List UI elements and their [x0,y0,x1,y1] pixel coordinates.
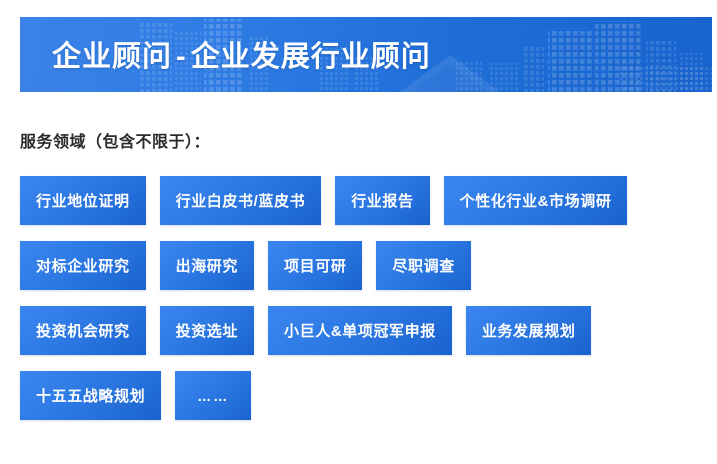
tag-row: 十五五战略规划 …… [20,371,700,420]
service-tag[interactable]: 投资选址 [160,306,254,355]
service-tag[interactable]: 对标企业研究 [20,241,146,290]
service-tag[interactable]: 投资机会研究 [20,306,146,355]
service-tag[interactable]: 十五五战略规划 [20,371,161,420]
tag-row: 对标企业研究 出海研究 项目可研 尽职调查 [20,241,700,290]
service-tag-grid: 行业地位证明 行业白皮书/蓝皮书 行业报告 个性化行业&市场调研 对标企业研究 … [20,176,700,420]
service-tag[interactable]: 行业白皮书/蓝皮书 [160,176,322,225]
service-tag[interactable]: 尽职调查 [376,241,470,290]
banner-title-separator: - [172,41,191,73]
header-banner: 企业顾问-企业发展行业顾问 [20,17,712,92]
service-areas-label: 服务领域（包含不限于）： [20,128,210,152]
service-tag[interactable]: 小巨人&单项冠军申报 [268,306,452,355]
service-tag[interactable]: 出海研究 [160,241,254,290]
banner-title-main: 企业顾问 [52,41,172,73]
service-tag[interactable]: 行业报告 [335,176,429,225]
page-root: 企业顾问-企业发展行业顾问 服务领域（包含不限于）： 行业地位证明 行业白皮书/… [0,0,717,464]
banner-title: 企业顾问-企业发展行业顾问 [52,33,431,75]
tag-row: 投资机会研究 投资选址 小巨人&单项冠军申报 业务发展规划 [20,306,700,355]
service-tag[interactable]: 业务发展规划 [466,306,592,355]
tag-row: 行业地位证明 行业白皮书/蓝皮书 行业报告 个性化行业&市场调研 [20,176,700,225]
banner-title-sub: 企业发展行业顾问 [191,41,431,73]
service-tag[interactable]: 个性化行业&市场调研 [444,176,628,225]
service-tag[interactable]: 行业地位证明 [20,176,146,225]
service-tag-more[interactable]: …… [175,371,251,420]
service-tag[interactable]: 项目可研 [268,241,362,290]
